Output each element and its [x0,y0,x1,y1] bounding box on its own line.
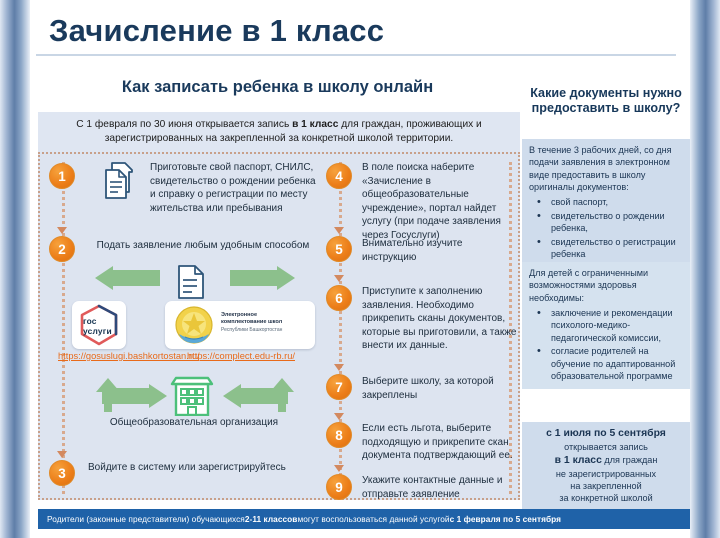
footer-part2: могут воспользоваться данной услугой [297,514,449,524]
flow-diagram: 1 Приготовьте свой паспорт, СНИЛС, свиде… [38,152,520,500]
documents-box-1-text: В течение 3 рабочих дней, со дня подачи … [529,144,683,193]
complect-logo-line3: Республики Башкортостан [221,327,311,334]
step-6-number[interactable]: 6 [326,285,352,311]
complect-link[interactable]: https://complect.edu-rb.ru/ [152,351,330,363]
complect-logo[interactable]: Электронное комплектование школ Республи… [165,301,315,349]
header-divider [36,54,676,56]
documents-box-2-list: заключение и рекомендации психолого-меди… [529,307,683,382]
step-3-number[interactable]: 3 [49,460,75,486]
step-4-number[interactable]: 4 [326,163,352,189]
gosuslugi-link[interactable]: https://gosuslugi.bashkortostan.ru/ [58,351,148,363]
footer-bold2: с 1 февраля по 5 сентября [450,514,561,524]
flow-arrow-6 [334,364,344,371]
documents-box-1: В течение 3 рабочих дней, со дня подачи … [522,139,690,267]
list-item: согласие родителей на обучение по адапти… [529,345,683,382]
footer-part1: Родители (законные представители) обучаю… [47,514,245,524]
documents-panel-title: Какие документы нужно предоставить в шко… [522,86,690,117]
documents-box-2-text: Для детей с ограниченными возможностями … [529,267,683,304]
flow-arrow-5 [334,275,344,282]
documents-box-3-line3: не зарегистрированных [529,468,683,480]
documents-box-3: с 1 июля по 5 сентября открывается запис… [522,422,690,523]
documents-box-2: Для детей с ограниченными возможностями … [522,262,690,389]
step-9-text: Укажите контактные данные и отправьте за… [362,474,517,501]
step-5-number[interactable]: 5 [326,236,352,262]
step-8-text: Если есть льгота, выберите подходящую и … [362,422,517,463]
intro-text-part1: С 1 февраля по 30 июня открывается запис… [76,119,292,130]
footer-bold1: 2-11 классов [245,514,298,524]
footer-banner: Родители (законные представители) обучаю… [38,509,690,529]
page-edge-left [0,0,30,538]
gosuslugi-logo-line1: гос [83,317,97,325]
documents-icon [102,161,140,208]
step-2-text: Подать заявление любым удобным способом [88,239,318,253]
documents-box-3-bold: в 1 класс [555,455,602,466]
step-3-text: Войдите в систему или зарегистрируйтесь [88,461,288,475]
flow-arrow-8 [334,465,344,472]
list-item: заключение и рекомендации психолого-меди… [529,307,683,344]
flow-arrow-2 [57,451,67,458]
intro-text-bold: в 1 класс [292,119,338,130]
complect-logo-line2: комплектование школ [221,319,311,326]
documents-box-3-head: с 1 июля по 5 сентября [546,428,666,439]
page-canvas: Зачисление в 1 класс Как записать ребенк… [30,0,690,538]
step-7-number[interactable]: 7 [326,374,352,400]
green-arrow-left-down-icon [90,266,172,305]
flow-arrow-1 [57,227,67,234]
complect-logo-text: Электронное комплектование школ Республи… [221,312,311,334]
school-building-icon [169,372,215,421]
documents-box-3-row: в 1 класс для граждан [529,454,683,468]
step-5-text: Внимательно изучите инструкцию [362,237,510,264]
main-section-title: Как записать ребенка в школу онлайн [30,78,525,97]
step-6-text: Приступите к заполнению заявления. Необх… [362,285,517,353]
step-7-text: Выберите школу, за которой закреплены [362,375,517,402]
page-title: Зачисление в 1 класс [49,13,384,49]
step-1-text: Приготовьте свой паспорт, СНИЛС, свидете… [150,161,318,215]
flow-arrow-7 [334,413,344,420]
page-edge-right [690,0,720,538]
documents-box-3-line5: за конкретной школой [529,492,683,504]
application-document-icon [176,264,206,305]
step-4-text: В поле поиска наберите «Зачисление в общ… [362,161,510,243]
list-item: свой паспорт, [529,196,683,208]
intro-banner: С 1 февраля по 30 июня открывается запис… [38,112,520,154]
list-item: свидетельство о рождении ребенка, [529,210,683,235]
step-9-number[interactable]: 9 [326,474,352,500]
green-arrow-right-down-icon [218,266,300,305]
complect-logo-line1: Электронное [221,312,311,319]
gosuslugi-logo[interactable]: гос услуги [72,301,126,349]
green-arrow-left-up-icon [90,378,172,417]
flow-arrow-4 [334,227,344,234]
header: Зачисление в 1 класс [30,8,690,58]
documents-box-1-list: свой паспорт, свидетельство о рождении р… [529,196,683,260]
organization-label: Общеобразовательная организация [76,417,312,428]
step-8-number[interactable]: 8 [326,422,352,448]
documents-box-3-line4: на закрепленной [529,480,683,492]
flow-guide-left [62,162,65,494]
gosuslugi-logo-line2: услуги [83,327,112,335]
step-1-number[interactable]: 1 [49,163,75,189]
documents-box-3-line1: открывается запись [529,441,683,453]
step-2-number[interactable]: 2 [49,236,75,262]
green-arrow-right-up-icon [218,378,300,417]
list-item: свидетельство о регистрации ребенка [529,236,683,261]
documents-box-3-line2: для граждан [602,455,658,465]
